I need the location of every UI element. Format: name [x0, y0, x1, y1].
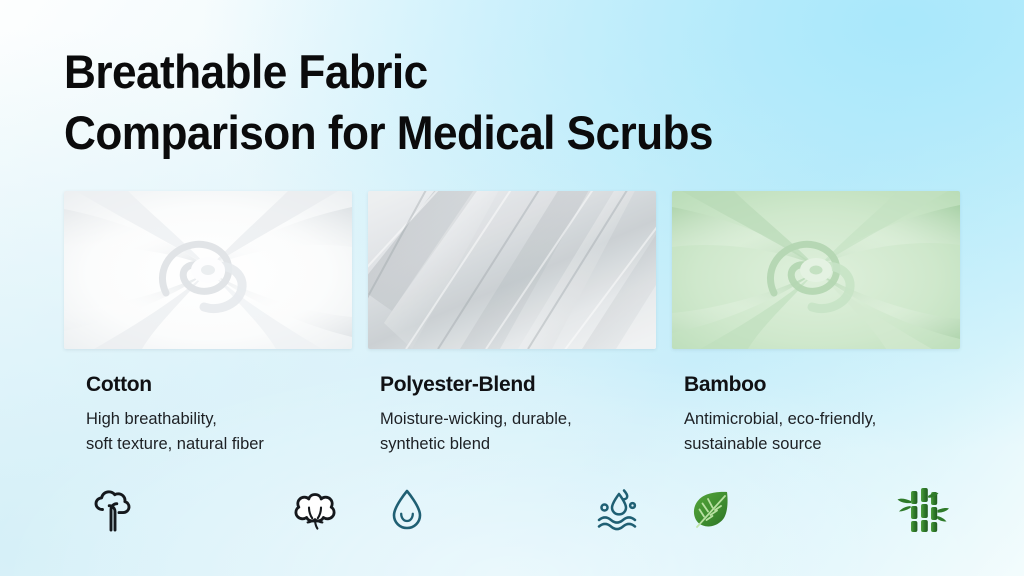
fabric-column-cotton: Cotton High breathability, soft texture,…	[64, 191, 352, 541]
leaf-icon	[684, 483, 738, 537]
fabric-description: Antimicrobial, eco-friendly, sustainable…	[684, 407, 960, 457]
bamboo-stalks-icon	[896, 483, 950, 537]
fabric-icon-row	[672, 479, 960, 541]
cotton-boll-icon	[288, 483, 342, 537]
fabric-swatch-bamboo	[672, 191, 960, 349]
fabric-icon-row	[64, 479, 352, 541]
fabric-name: Polyester-Blend	[380, 373, 656, 396]
water-splash-icon	[592, 483, 646, 537]
fabric-name: Bamboo	[684, 373, 960, 396]
infographic-slide: Breathable Fabric Comparison for Medical…	[0, 0, 1024, 576]
fabric-swatch-cotton	[64, 191, 352, 349]
cotton-boll-sprout-icon	[86, 483, 140, 537]
water-drop-icon	[380, 483, 434, 537]
fabric-description: High breathability, soft texture, natura…	[86, 407, 352, 457]
fabric-column-polyester-blend: Polyester-Blend Moisture-wicking, durabl…	[368, 191, 656, 541]
fabric-swatch-polyester-blend	[368, 191, 656, 349]
fabric-name: Cotton	[86, 373, 352, 396]
fabric-columns: Cotton High breathability, soft texture,…	[64, 191, 960, 541]
fabric-column-bamboo: Bamboo Antimicrobial, eco-friendly, sust…	[672, 191, 960, 541]
fabric-description: Moisture-wicking, durable, synthetic ble…	[380, 407, 656, 457]
fabric-icon-row	[368, 479, 656, 541]
page-title: Breathable Fabric Comparison for Medical…	[64, 41, 891, 163]
